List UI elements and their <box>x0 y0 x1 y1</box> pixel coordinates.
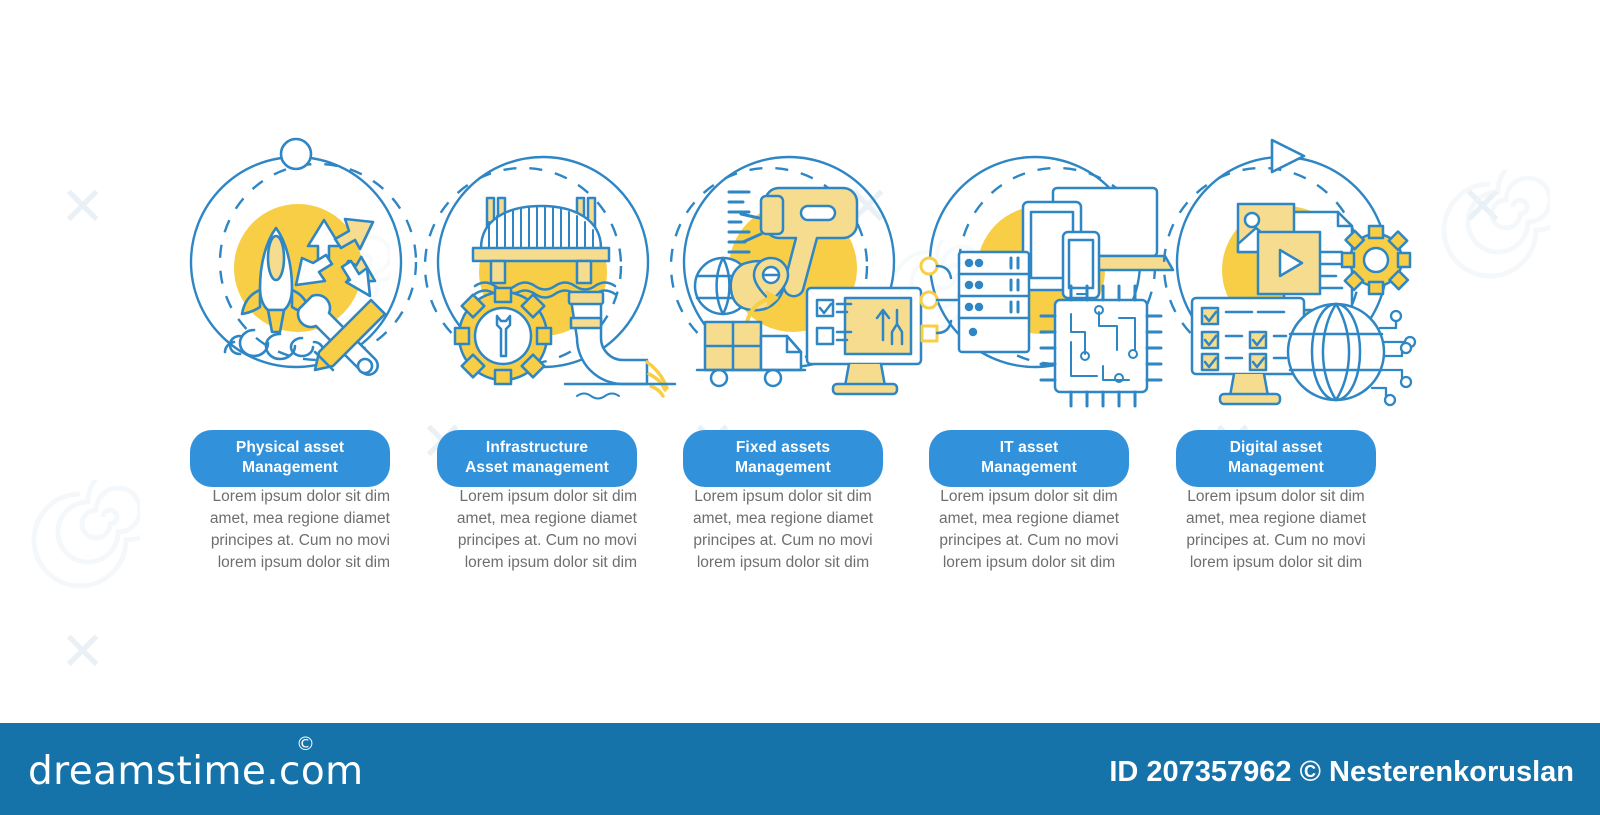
step-1-description: Lorem ipsum dolor sit dim amet, mea regi… <box>190 486 390 574</box>
step-1[interactable]: Physical asset Management Lorem ipsum do… <box>190 0 440 620</box>
step-5-label-line1: Digital asset <box>1230 439 1323 456</box>
watermark-x: ✕ <box>60 620 105 683</box>
step-2-label[interactable]: Infrastructure Asset management <box>437 430 637 487</box>
infographic-canvas: ✕ ✕ ✕ ✕ ✕ ✕ ✕ <box>0 0 1600 815</box>
step-2[interactable]: Infrastructure Asset management Lorem ip… <box>437 0 687 620</box>
step-3-label-line2: Management <box>697 458 869 478</box>
step-2-description: Lorem ipsum dolor sit dim amet, mea regi… <box>437 486 637 574</box>
step-5-description: Lorem ipsum dolor sit dim amet, mea regi… <box>1176 486 1376 574</box>
step-4-label-line2: Management <box>943 458 1115 478</box>
step-1-label-line1: Physical asset <box>236 439 344 456</box>
watermark-footer-bar: dreamstime.com © ID 207357962 © Nesteren… <box>0 723 1600 815</box>
start-marker-circle-icon <box>278 136 314 172</box>
step-2-label-line2: Asset management <box>451 458 623 478</box>
step-4[interactable]: IT asset Management Lorem ipsum dolor si… <box>929 0 1179 620</box>
step-3-description: Lorem ipsum dolor sit dim amet, mea regi… <box>683 486 883 574</box>
step-3[interactable]: Fixed assets Management Lorem ipsum dolo… <box>683 0 933 620</box>
step-2-label-line1: Infrastructure <box>486 439 588 456</box>
step-5-label[interactable]: Digital asset Management <box>1176 430 1376 487</box>
step-4-description: Lorem ipsum dolor sit dim amet, mea regi… <box>929 486 1129 574</box>
step-5-label-line2: Management <box>1190 458 1362 478</box>
step-3-label[interactable]: Fixed assets Management <box>683 430 883 487</box>
registered-mark-icon: © <box>296 733 315 755</box>
dreamstime-logo[interactable]: dreamstime.com © <box>28 749 364 794</box>
step-5[interactable]: Digital asset Management Lorem ipsum dol… <box>1176 0 1426 620</box>
dreamstime-logo-text: dreamstime.com <box>28 749 364 794</box>
steps-row: Physical asset Management Lorem ipsum do… <box>0 0 1600 620</box>
step-5-circle <box>1154 140 1454 410</box>
step-3-label-line1: Fixed assets <box>736 439 830 456</box>
media-files-globe-icon <box>1154 140 1454 410</box>
image-credit: ID 207357962 © Nesterenkoruslan <box>1109 756 1574 789</box>
step-1-label-line2: Management <box>204 458 376 478</box>
end-marker-play-triangle-icon <box>1266 136 1310 176</box>
step-1-label[interactable]: Physical asset Management <box>190 430 390 487</box>
step-4-label-line1: IT asset <box>1000 439 1059 456</box>
step-4-label[interactable]: IT asset Management <box>929 430 1129 487</box>
